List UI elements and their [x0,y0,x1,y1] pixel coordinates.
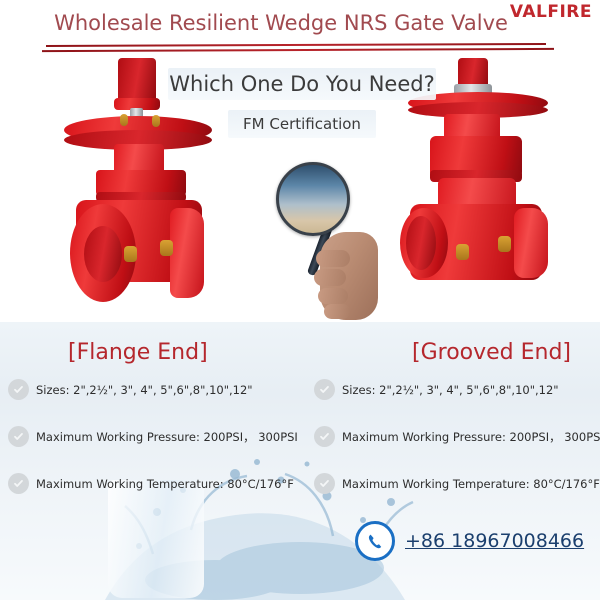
page-title: Wholesale Resilient Wedge NRS Gate Valve [0,11,562,35]
callout-secondary: FM Certification [228,110,376,138]
check-circle-icon [314,379,335,400]
spec-list-flange: Sizes: 2",2½", 3", 4", 5",6",8",10",12" … [6,378,306,519]
check-circle-icon [8,379,29,400]
phone-icon[interactable] [355,521,395,561]
product-poster: Wholesale Resilient Wedge NRS Gate Valve… [0,0,600,600]
poster-header: Wholesale Resilient Wedge NRS Gate Valve… [0,0,600,58]
list-item: Maximum Working Pressure: 200PSI， 300PSI [6,425,306,449]
list-item: Maximum Working Pressure: 200PSI， 300PSI [312,425,600,449]
phone-number[interactable]: +86 18967008466 [405,530,584,552]
spec-text: Maximum Working Temperature: 80°C/176°F [342,477,600,491]
check-circle-icon [8,426,29,447]
check-circle-icon [314,426,335,447]
list-item: Sizes: 2",2½", 3", 4", 5",6",8",10",12" [6,378,306,402]
spec-list-grooved: Sizes: 2",2½", 3", 4", 5",6",8",10",12" … [312,378,600,519]
list-item: Maximum Working Temperature: 80°C/176°F [312,472,600,496]
spec-text: Sizes: 2",2½", 3", 4", 5",6",8",10",12" [36,383,253,397]
column-heading-flange: [Flange End] [68,340,208,365]
magnifying-glass-icon [268,158,390,322]
callout-primary: Which One Do You Need? [168,68,436,100]
spec-text: Maximum Working Pressure: 200PSI， 300PSI [36,429,298,445]
specifications-panel: [Flange End] [Grooved End] Sizes: 2",2½"… [0,322,600,600]
contact-block[interactable]: +86 18967008466 [355,521,584,561]
hero-section: Which One Do You Need? FM Certification [0,58,600,322]
brand-logo: VALFIRE [510,2,592,22]
column-heading-grooved: [Grooved End] [412,340,571,365]
check-circle-icon [8,473,29,494]
header-divider [42,44,554,54]
spec-text: Maximum Working Temperature: 80°C/176°F [36,477,294,491]
spec-text: Maximum Working Pressure: 200PSI， 300PSI [342,429,600,445]
list-item: Sizes: 2",2½", 3", 4", 5",6",8",10",12" [312,378,600,402]
check-circle-icon [314,473,335,494]
list-item: Maximum Working Temperature: 80°C/176°F [6,472,306,496]
spec-text: Sizes: 2",2½", 3", 4", 5",6",8",10",12" [342,383,559,397]
